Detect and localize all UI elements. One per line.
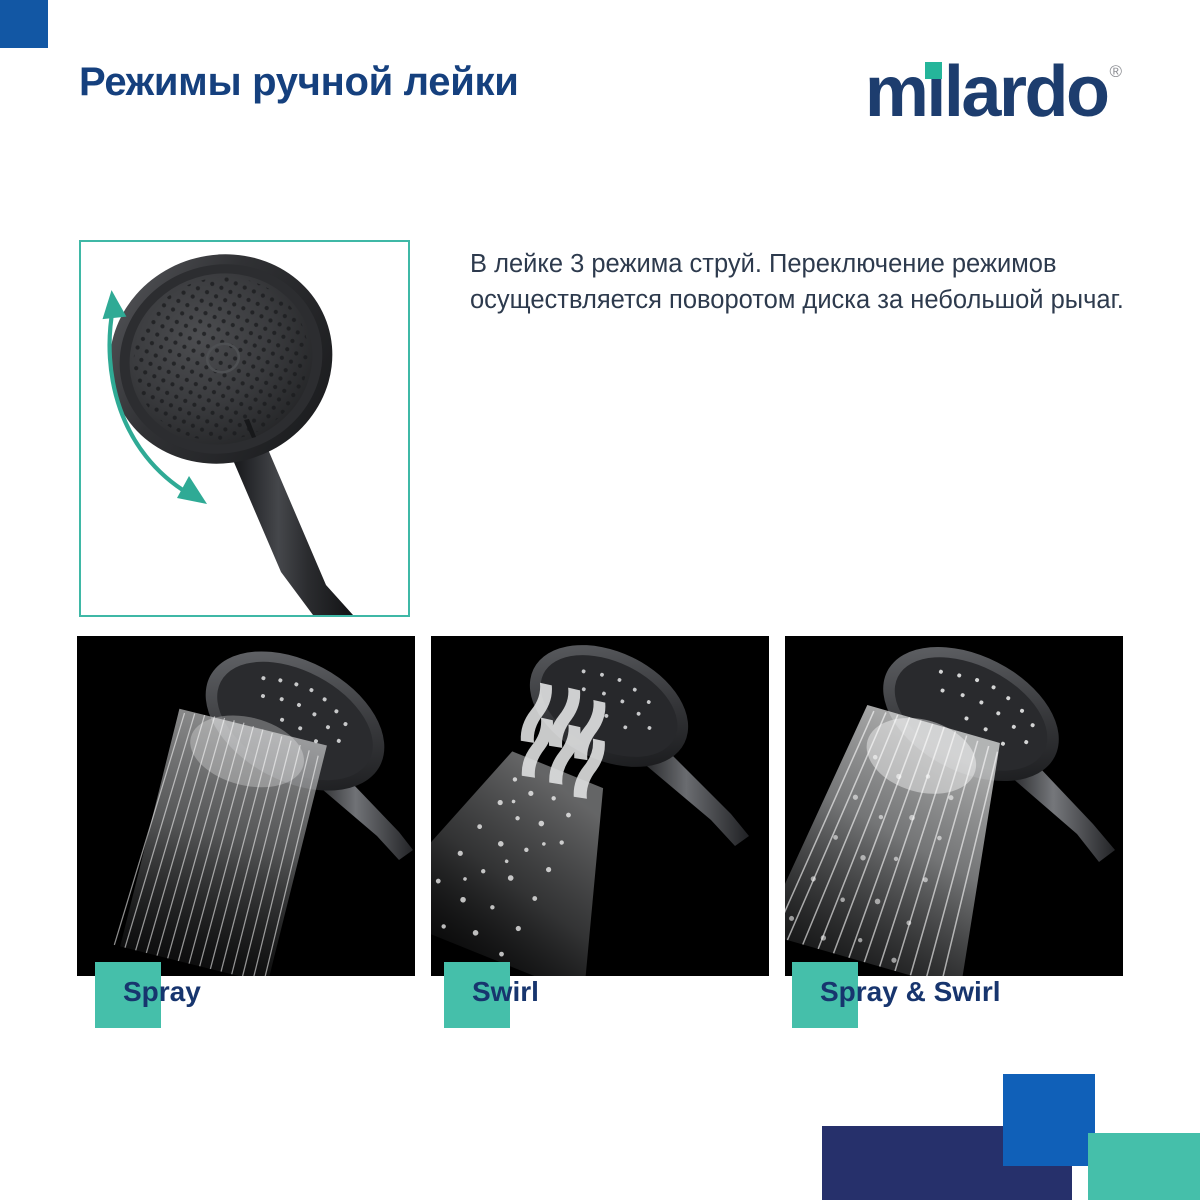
decorative-square-teal (1088, 1133, 1200, 1200)
spray-photo (77, 636, 415, 976)
intro-paragraph: В лейке 3 режима струй. Переключение реж… (470, 246, 1130, 318)
registered-trademark-icon: ® (1109, 62, 1122, 82)
mode-panels (77, 636, 1123, 976)
spray-and-swirl-photo (785, 636, 1123, 976)
mode-panel-swirl (431, 636, 769, 976)
rotation-arrow-head-up (100, 289, 127, 319)
rotation-illustration-box (79, 240, 410, 617)
brand-logo: milardo ® (865, 56, 1122, 128)
infographic-page: Режимы ручной лейки milardo ® В лейке 3 … (0, 0, 1200, 1200)
shower-head-rotation-illustration (81, 242, 408, 615)
mode-panel-spray (77, 636, 415, 976)
mode-label-spray: Spray (95, 962, 201, 1008)
mode-label-text: Swirl (472, 976, 539, 1008)
page-title: Режимы ручной лейки (79, 60, 519, 105)
shower-handle (233, 447, 353, 615)
rotation-arrow-head-down (177, 476, 207, 504)
mode-labels: Spray Swirl Spray & Swirl (77, 962, 1123, 1042)
swirl-photo (431, 636, 769, 976)
mode-panel-spray-and-swirl (785, 636, 1123, 976)
decorative-square-top-left (0, 0, 48, 48)
mode-label-swirl: Swirl (444, 962, 539, 1008)
mode-label-text: Spray (123, 976, 201, 1008)
logo-i-dot-icon (925, 62, 942, 79)
logo-wordmark: milardo (865, 56, 1108, 128)
mode-label-spray-and-swirl: Spray & Swirl (792, 962, 1001, 1008)
decorative-square-blue (1003, 1074, 1095, 1166)
mode-label-text: Spray & Swirl (820, 976, 1001, 1008)
